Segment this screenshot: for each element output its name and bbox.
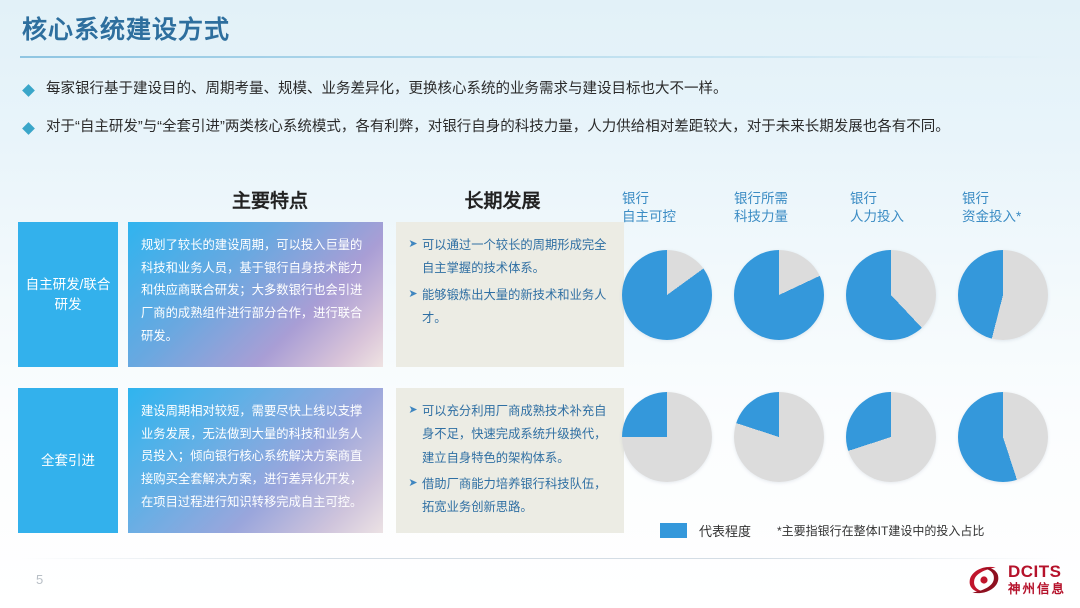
bullet-item: 对于“自主研发”与“全套引进”两类核心系统模式，各有利弊，对银行自身的科技力量，… (20, 118, 1065, 138)
list-item: ➤ 可以通过一个较长的周期形成完全自主掌握的技术体系。 (404, 234, 614, 281)
arrow-bullet-icon: ➤ (404, 284, 422, 305)
legend-label: 代表程度 (699, 521, 751, 540)
list-item-text: 借助厂商能力培养银行科技队伍，拓宽业务创新思路。 (422, 473, 614, 520)
chart-legend: 代表程度 *主要指银行在整体IT建设中的投入占比 (660, 521, 984, 540)
title-divider (20, 56, 1060, 58)
row-feature-full-procurement: 建设周期相对较短，需要尽快上线以支撑业务发展，无法做到大量的科技和业务人员投入；… (128, 388, 383, 533)
column-heading-longterm: 长期发展 (395, 186, 610, 213)
footer-divider (20, 558, 1060, 559)
pie-chart-r1c3 (958, 392, 1048, 482)
pie-chart-r1c2 (846, 392, 936, 482)
pie-category-label-0: 银行 自主可控 (622, 190, 734, 226)
list-item: ➤ 可以充分利用厂商成熟技术补充自身不足，快速完成系统升级换代，建立自身特色的架… (404, 400, 614, 470)
bullet-text: 对于“自主研发”与“全套引进”两类核心系统模式，各有利弊，对银行自身的科技力量，… (46, 118, 950, 138)
pie-category-label-line2: 资金投入* (962, 208, 1074, 226)
arrow-bullet-icon: ➤ (404, 400, 422, 421)
pie-category-label-2: 银行 人力投入 (850, 190, 962, 226)
bullet-list: 每家银行基于建设目的、周期考量、规模、业务差异化，更换核心系统的业务需求与建设目… (20, 80, 1065, 155)
brand-logo: DCITS 神州信息 (966, 563, 1066, 597)
logo-text-cn: 神州信息 (1008, 582, 1066, 596)
diamond-bullet-icon (22, 84, 35, 97)
pie-category-label-line2: 科技力量 (734, 208, 846, 226)
column-heading-features: 主要特点 (155, 186, 385, 213)
pie-category-label-line1: 银行所需 (734, 190, 846, 208)
diamond-bullet-icon (22, 122, 35, 135)
pie-chart-r0c3 (958, 250, 1048, 340)
pie-chart-r1c1 (734, 392, 824, 482)
pie-chart-r1c0 (622, 392, 712, 482)
dcits-swirl-icon (966, 563, 1002, 597)
legend-swatch (660, 523, 687, 538)
pie-category-label-3: 银行 资金投入* (962, 190, 1074, 226)
list-item: ➤ 能够锻炼出大量的新技术和业务人才。 (404, 284, 614, 331)
page-title: 核心系统建设方式 (22, 10, 230, 46)
list-item-text: 可以充分利用厂商成熟技术补充自身不足，快速完成系统升级换代，建立自身特色的架构体… (422, 400, 614, 470)
chart-footnote: *主要指银行在整体IT建设中的投入占比 (777, 522, 984, 539)
list-item-text: 可以通过一个较长的周期形成完全自主掌握的技术体系。 (422, 234, 614, 281)
pie-chart-r0c1 (734, 250, 824, 340)
slide-canvas: 核心系统建设方式 每家银行基于建设目的、周期考量、规模、业务差异化，更换核心系统… (0, 0, 1080, 608)
list-item-text: 能够锻炼出大量的新技术和业务人才。 (422, 284, 614, 331)
pie-category-label-1: 银行所需 科技力量 (734, 190, 846, 226)
list-item: ➤ 借助厂商能力培养银行科技队伍，拓宽业务创新思路。 (404, 473, 614, 520)
row-feature-self-development: 规划了较长的建设周期，可以投入巨量的科技和业务人员，基于银行自身技术能力和供应商… (128, 222, 383, 367)
pie-category-label-line1: 银行 (962, 190, 1074, 208)
page-number: 5 (36, 572, 43, 587)
row-longterm-self-development: ➤ 可以通过一个较长的周期形成完全自主掌握的技术体系。 ➤ 能够锻炼出大量的新技… (396, 222, 624, 367)
pie-category-label-line1: 银行 (622, 190, 734, 208)
row-label-self-development: 自主研发/联合研发 (18, 222, 118, 367)
row-label-full-procurement: 全套引进 (18, 388, 118, 533)
arrow-bullet-icon: ➤ (404, 473, 422, 494)
pie-chart-r0c2 (846, 250, 936, 340)
pie-category-headers: 银行 自主可控 银行所需 科技力量 银行 人力投入 银行 资金投入* (622, 190, 1077, 236)
logo-text-en: DCITS (1008, 562, 1062, 581)
pie-category-label-line2: 自主可控 (622, 208, 734, 226)
row-longterm-full-procurement: ➤ 可以充分利用厂商成熟技术补充自身不足，快速完成系统升级换代，建立自身特色的架… (396, 388, 624, 533)
arrow-bullet-icon: ➤ (404, 234, 422, 255)
bullet-text: 每家银行基于建设目的、周期考量、规模、业务差异化，更换核心系统的业务需求与建设目… (46, 80, 728, 100)
bullet-item: 每家银行基于建设目的、周期考量、规模、业务差异化，更换核心系统的业务需求与建设目… (20, 80, 1065, 100)
pie-category-label-line2: 人力投入 (850, 208, 962, 226)
pie-category-label-line1: 银行 (850, 190, 962, 208)
pie-chart-r0c0 (622, 250, 712, 340)
